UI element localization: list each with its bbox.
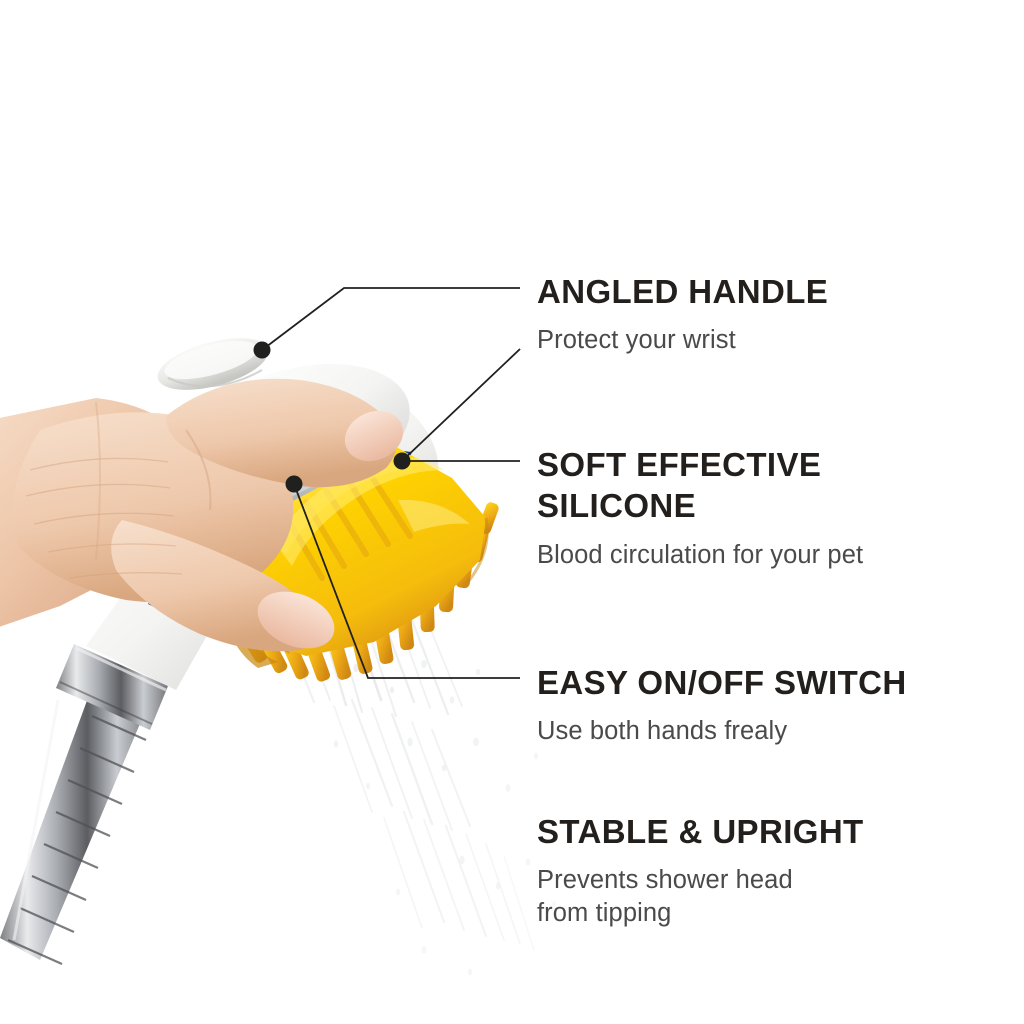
callout-title: SOFT EFFECTIVE SILICONE <box>537 445 863 526</box>
callout-subtitle: Blood circulation for your pet <box>537 539 863 572</box>
callout-title: EASY ON/OFF SWITCH <box>537 663 907 704</box>
callout-subtitle: Prevents shower head from tipping <box>537 864 864 930</box>
callout-soft-effective-silicone: SOFT EFFECTIVE SILICONE Blood circulatio… <box>537 445 863 572</box>
callout-subtitle: Protect your wrist <box>537 324 828 357</box>
infographic-canvas: ANGLED HANDLE Protect your wrist SOFT EF… <box>0 0 1024 1024</box>
callout-list: ANGLED HANDLE Protect your wrist SOFT EF… <box>0 0 1024 1024</box>
callout-subtitle: Use both hands frealy <box>537 715 907 748</box>
callout-easy-on-off-switch: EASY ON/OFF SWITCH Use both hands frealy <box>537 663 907 748</box>
callout-title: ANGLED HANDLE <box>537 272 828 313</box>
callout-angled-handle: ANGLED HANDLE Protect your wrist <box>537 272 828 357</box>
callout-title: STABLE & UPRIGHT <box>537 812 864 853</box>
callout-stable-upright: STABLE & UPRIGHT Prevents shower head fr… <box>537 812 864 930</box>
